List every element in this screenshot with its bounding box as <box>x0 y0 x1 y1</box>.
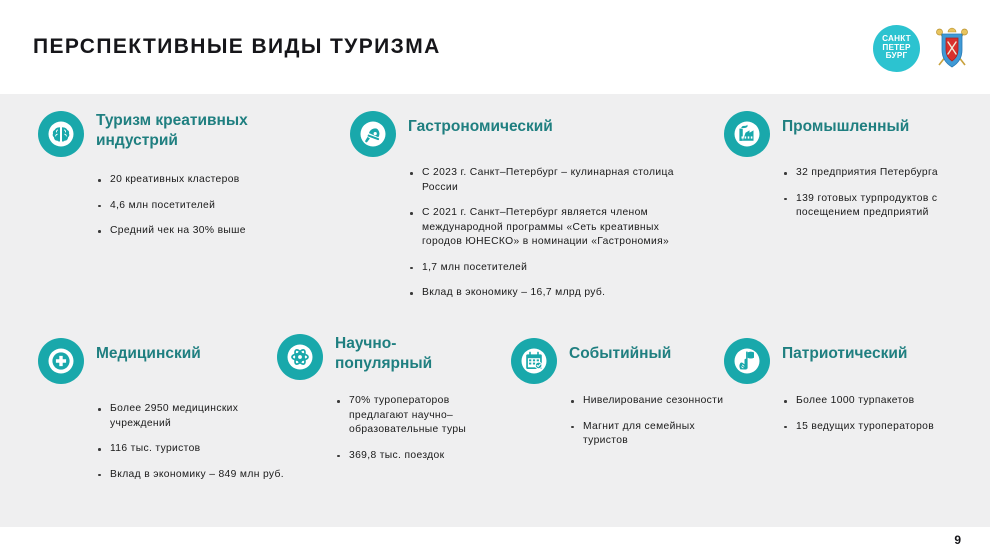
card-bullet-list: С 2023 г. Санкт–Петербург – кулинарная с… <box>408 166 700 301</box>
coat-of-arms-icon <box>932 24 972 72</box>
card-creative-tourism: Туризм креативных индустрий 20 креативны… <box>38 111 328 250</box>
list-item: Более 1000 турпакетов <box>782 394 984 409</box>
card-header: Гастрономический <box>350 111 700 157</box>
card-header: Научно-популярный <box>277 334 492 380</box>
page-title: ПЕРСПЕКТИВНЫЕ ВИДЫ ТУРИЗМА <box>33 35 441 59</box>
card-bullet-list: 70% туроператоров предлагают научно– обр… <box>335 394 492 463</box>
card-header: Событийный <box>511 338 741 384</box>
card-popular-science-tourism: Научно-популярный 70% туроператоров пред… <box>277 334 492 474</box>
medical-cross-icon <box>38 338 84 384</box>
brain-icon <box>38 111 84 157</box>
card-header: Медицинский <box>38 338 288 384</box>
card-header: Туризм креативных индустрий <box>38 111 328 157</box>
list-item: Нивелирование сезонности <box>569 394 741 409</box>
list-item: 4,6 млн посетителей <box>96 199 328 214</box>
card-bullet-list: Более 1000 турпакетов 15 ведущих туропер… <box>782 394 984 434</box>
list-item: 20 креативных кластеров <box>96 173 328 188</box>
list-item: 15 ведущих туроператоров <box>782 420 984 435</box>
list-item: 139 готовых турпродуктов с посещением пр… <box>782 192 986 221</box>
card-title: Научно-популярный <box>335 334 492 374</box>
card-title: Туризм креативных индустрий <box>96 111 328 151</box>
card-event-tourism: Событийный Нивелирование сезонности Магн… <box>511 338 741 460</box>
card-bullet-list: Нивелирование сезонности Магнит для семе… <box>569 394 741 449</box>
card-bullet-list: Более 2950 медицинских учреждений 116 ты… <box>96 402 288 482</box>
list-item: Средний чек на 30% выше <box>96 224 328 239</box>
list-item: Магнит для семейных туристов <box>569 420 741 449</box>
page-number: 9 <box>954 533 961 547</box>
calendar-check-icon <box>511 338 557 384</box>
card-header: Промышленный <box>724 111 986 157</box>
list-item: 32 предприятия Петербурга <box>782 166 986 181</box>
list-item: Вклад в экономику – 16,7 млрд руб. <box>408 286 700 301</box>
slide-canvas: ПЕРСПЕКТИВНЫЕ ВИДЫ ТУРИЗМА САНКТ ПЕТЕР Б… <box>0 0 990 557</box>
hand-flag-icon <box>724 338 770 384</box>
list-item: 1,7 млн посетителей <box>408 261 700 276</box>
spb-logo-line-3: БУРГ <box>886 52 908 61</box>
list-item: С 2021 г. Санкт–Петербург является члено… <box>408 206 700 250</box>
slide-header: ПЕРСПЕКТИВНЫЕ ВИДЫ ТУРИЗМА САНКТ ПЕТЕР Б… <box>0 0 990 94</box>
saint-petersburg-logo: САНКТ ПЕТЕР БУРГ <box>873 25 920 72</box>
list-item: Более 2950 медицинских учреждений <box>96 402 288 431</box>
list-item: С 2023 г. Санкт–Петербург – кулинарная с… <box>408 166 700 195</box>
card-title: Гастрономический <box>408 111 553 137</box>
card-title: Медицинский <box>96 338 201 364</box>
slide-footer: 9 <box>0 527 990 557</box>
factory-icon <box>724 111 770 157</box>
card-medical-tourism: Медицинский Более 2950 медицинских учреж… <box>38 338 288 493</box>
list-item: 116 тыс. туристов <box>96 442 288 457</box>
list-item: Вклад в экономику – 849 млн руб. <box>96 468 288 483</box>
atom-icon <box>277 334 323 380</box>
list-item: 70% туроператоров предлагают научно– обр… <box>335 394 492 438</box>
card-header: Патриотический <box>724 338 984 384</box>
food-cloche-icon <box>350 111 396 157</box>
card-gastronomic-tourism: Гастрономический С 2023 г. Санкт–Петербу… <box>350 111 700 312</box>
list-item: 369,8 тыс. поездок <box>335 449 492 464</box>
card-title: Патриотический <box>782 338 907 364</box>
card-patriotic-tourism: Патриотический Более 1000 турпакетов 15 … <box>724 338 984 445</box>
card-title: Событийный <box>569 338 671 364</box>
card-bullet-list: 20 креативных кластеров 4,6 млн посетите… <box>96 173 328 239</box>
card-industrial-tourism: Промышленный 32 предприятия Петербурга 1… <box>724 111 986 232</box>
card-title: Промышленный <box>782 111 909 137</box>
logo-group: САНКТ ПЕТЕР БУРГ <box>873 24 972 72</box>
card-bullet-list: 32 предприятия Петербурга 139 готовых ту… <box>782 166 986 221</box>
